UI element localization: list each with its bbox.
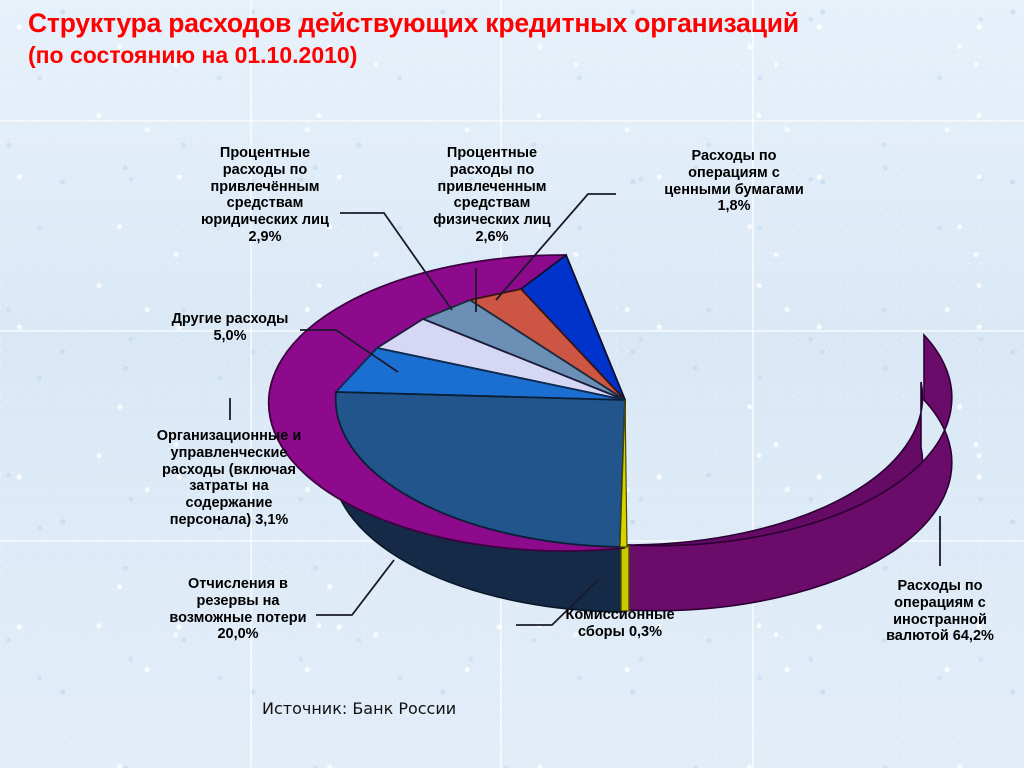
pie-label-reserves: Отчисления в резервы на возможные потери… [128,576,348,643]
pie-label-commission: Комиссионные сборы 0,3% [520,607,720,641]
pie-chart-graphic [0,0,1024,768]
pie-label-securities: Расходы по операциям с ценными бумагами … [624,148,844,215]
pie-side-wall-commission [621,546,629,611]
pie-label-other: Другие расходы 5,0% [120,311,340,345]
pie-label-individual-interest: Процентные расходы по привлеченным средс… [392,145,592,246]
source-note: Источник: Банк России [262,699,456,718]
pie-label-legal-interest: Процентные расходы по привлечённым средс… [150,145,380,246]
pie-label-forex: Расходы по операциям с иностранной валют… [856,578,1024,645]
pie-label-admin: Организационные и управленческие расходы… [118,428,340,529]
pie-side-wall-forex [628,335,952,611]
pie-chart: Процентные расходы по привлечённым средс… [0,0,1024,768]
